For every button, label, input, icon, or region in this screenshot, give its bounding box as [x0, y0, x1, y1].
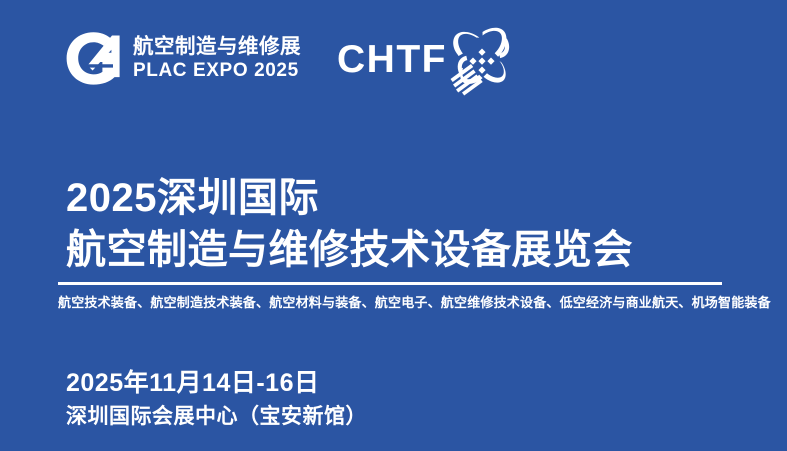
g4-monogram-icon	[62, 28, 124, 90]
exhibition-poster-banner: 航空制造与维修展 PLAC EXPO 2025 CHTF	[0, 0, 787, 451]
plac-expo-logo: 航空制造与维修展 PLAC EXPO 2025	[62, 28, 301, 90]
title-divider	[58, 282, 722, 285]
plac-title-cn: 航空制造与维修展	[133, 36, 301, 58]
event-date: 2025年11月14日-16日	[66, 366, 367, 400]
event-venue: 深圳国际会展中心（宝安新馆）	[66, 402, 367, 432]
chtf-wordmark: CHTF	[337, 40, 447, 79]
title-line-2: 航空制造与维修技术设备展览会	[66, 224, 633, 276]
event-info-block: 2025年11月14日-16日 深圳国际会展中心（宝安新馆）	[66, 366, 367, 432]
subtitle-categories: 航空技术装备、航空制造技术装备、航空材料与装备、航空电子、航空维修技术设备、低空…	[58, 293, 748, 312]
chtf-logo: CHTF	[337, 22, 515, 96]
page-title: 2025深圳国际 航空制造与维修技术设备展览会	[66, 172, 633, 276]
plac-logo-text: 航空制造与维修展 PLAC EXPO 2025	[133, 36, 301, 81]
title-line-1: 2025深圳国际	[66, 172, 633, 224]
header-logo-row: 航空制造与维修展 PLAC EXPO 2025 CHTF	[62, 22, 515, 96]
orbit-atom-icon	[449, 24, 515, 96]
plac-title-en: PLAC EXPO 2025	[133, 60, 301, 81]
